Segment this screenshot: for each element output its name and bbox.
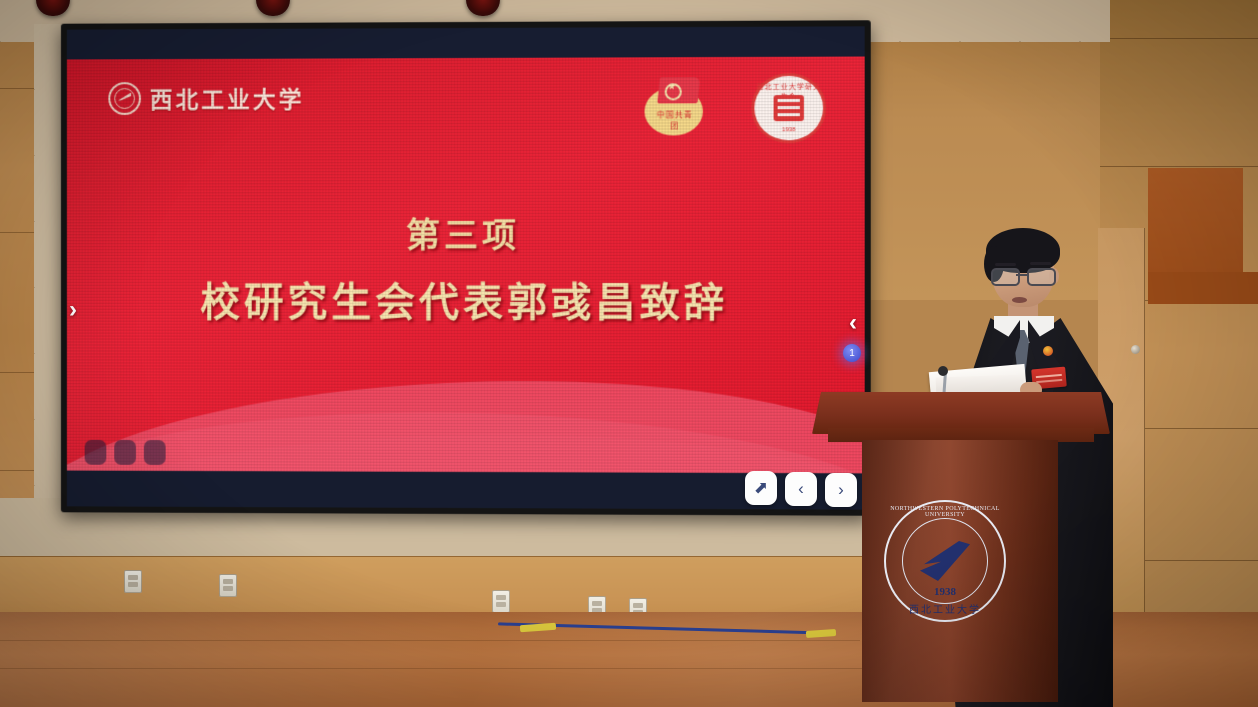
slide-subtitle: 校研究生会代表郭彧昌致辞 [67, 270, 865, 328]
seal-year: 1938 [886, 586, 1004, 598]
wall-wood-inset-lower [1148, 272, 1258, 304]
next-slide-button[interactable]: › [825, 473, 857, 507]
edge-prev-chevron-icon[interactable]: ‹ [849, 311, 857, 335]
lapel-pin-icon [1043, 346, 1053, 356]
speaker-mouth [1012, 297, 1027, 303]
wall-outlet [124, 570, 142, 593]
youth-league-badge-text: 中国共青团 [653, 109, 697, 131]
speaker-brow [995, 263, 1016, 266]
screen-top-letterbox [67, 26, 865, 59]
screen-dark-button-2[interactable] [114, 440, 136, 465]
slide-wave-decoration [67, 367, 865, 473]
screen-dark-button-1[interactable] [85, 440, 107, 465]
edge-next-chevron-icon[interactable]: › [69, 298, 77, 322]
podium-university-seal-icon: NORTHWESTERN POLYTECHNICAL UNIVERSITY 19… [884, 500, 1006, 622]
wall-outlet [219, 574, 237, 597]
gsu-year-text: 1938 [754, 127, 823, 133]
slide-title: 第三项 [67, 208, 865, 257]
share-button[interactable]: ⬈ [745, 471, 777, 505]
speaker-brow [1030, 262, 1051, 265]
microphone-icon [938, 366, 948, 376]
seal-chinese-name: 西北工业大学 [886, 601, 1004, 616]
university-name: 西北工业大学 [150, 81, 305, 115]
notification-count-badge[interactable]: 1 [843, 344, 861, 362]
university-emblem-icon [108, 82, 141, 115]
graduate-student-union-badge-icon: 西北工业大学研究生会 1938 [751, 73, 826, 144]
seal-arrow-motif [920, 541, 970, 581]
door-knob-icon[interactable] [1131, 345, 1140, 354]
screen-dark-button-3[interactable] [144, 440, 166, 465]
led-screen-display: 西北工业大学 中国共青团 西北工业大学研究生会 1938 第三项 校研究生会代表… [67, 26, 865, 509]
wall-outlet [492, 590, 510, 613]
speaker-glasses-icon [991, 268, 1055, 283]
slide-university-logo: 西北工业大学 [108, 81, 304, 115]
photo-scene: 西北工业大学 中国共青团 西北工业大学研究生会 1938 第三项 校研究生会代表… [0, 0, 1258, 707]
communist-youth-league-badge-icon: 中国共青团 [640, 75, 710, 137]
presentation-slide: 西北工业大学 中国共青团 西北工业大学研究生会 1938 第三项 校研究生会代表… [67, 57, 865, 474]
previous-slide-button[interactable]: ‹ [785, 472, 817, 506]
seal-arc-text: NORTHWESTERN POLYTECHNICAL UNIVERSITY [886, 506, 1004, 518]
led-screen: 西北工业大学 中国共青团 西北工业大学研究生会 1938 第三项 校研究生会代表… [61, 20, 871, 516]
